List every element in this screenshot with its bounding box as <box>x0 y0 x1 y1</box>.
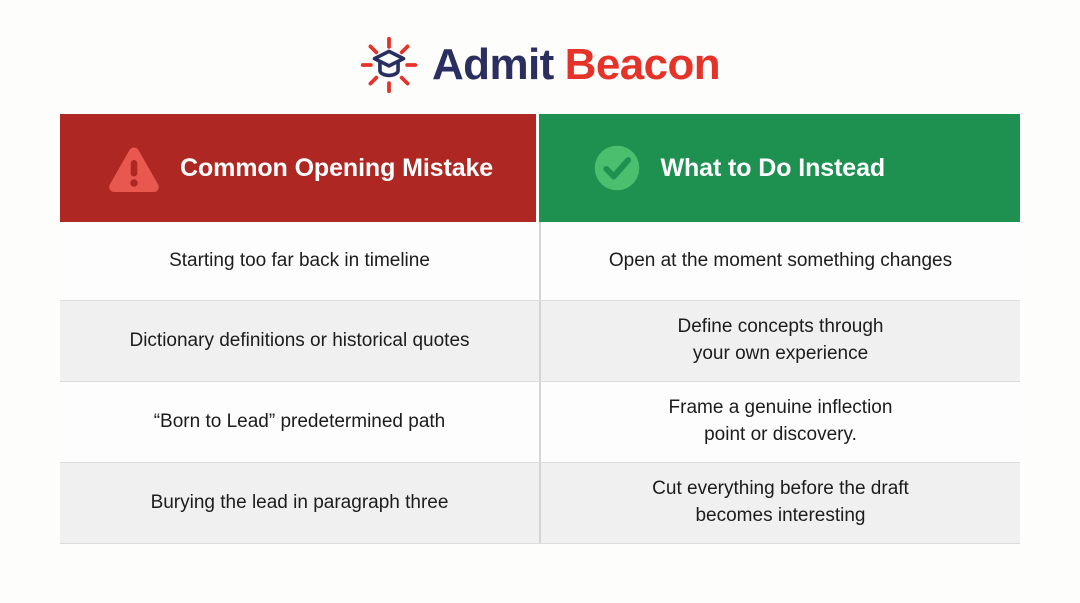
cell-instead: Open at the moment something changes <box>541 222 1020 300</box>
cell-mistake: Starting too far back in timeline <box>60 222 541 300</box>
table-header-row: Common Opening Mistake What to Do Instea… <box>60 114 1020 222</box>
table-row: Burying the lead in paragraph three Cut … <box>60 463 1020 544</box>
cell-instead: Cut everything before the draftbecomes i… <box>541 463 1020 543</box>
brand-word-beacon: Beacon <box>565 43 720 87</box>
column-header-mistake: Common Opening Mistake <box>60 114 536 222</box>
brand-logo: Admit Beacon <box>0 28 1080 102</box>
cell-instead: Frame a genuine inflectionpoint or disco… <box>541 382 1020 462</box>
table-row: “Born to Lead” predetermined path Frame … <box>60 382 1020 463</box>
column-header-instead-label: What to Do Instead <box>661 152 886 184</box>
table-row: Starting too far back in timeline Open a… <box>60 222 1020 301</box>
check-circle-icon <box>591 142 643 194</box>
cell-instead: Define concepts throughyour own experien… <box>541 301 1020 381</box>
table-row: Dictionary definitions or historical quo… <box>60 301 1020 382</box>
comparison-infographic: Admit Beacon Common Opening Mistake What… <box>0 0 1080 603</box>
comparison-table: Common Opening Mistake What to Do Instea… <box>60 114 1020 544</box>
cell-mistake: Burying the lead in paragraph three <box>60 463 541 543</box>
cell-mistake: Dictionary definitions or historical quo… <box>60 301 541 381</box>
table-body: Starting too far back in timeline Open a… <box>60 222 1020 544</box>
brand-word-admit: Admit <box>432 43 554 87</box>
cell-mistake: “Born to Lead” predetermined path <box>60 382 541 462</box>
column-header-mistake-label: Common Opening Mistake <box>180 152 493 184</box>
column-header-instead: What to Do Instead <box>539 114 1021 222</box>
brand-wordmark: Admit Beacon <box>432 43 720 87</box>
graduation-cap-beacon-icon <box>360 36 418 94</box>
warning-triangle-icon <box>106 140 162 196</box>
